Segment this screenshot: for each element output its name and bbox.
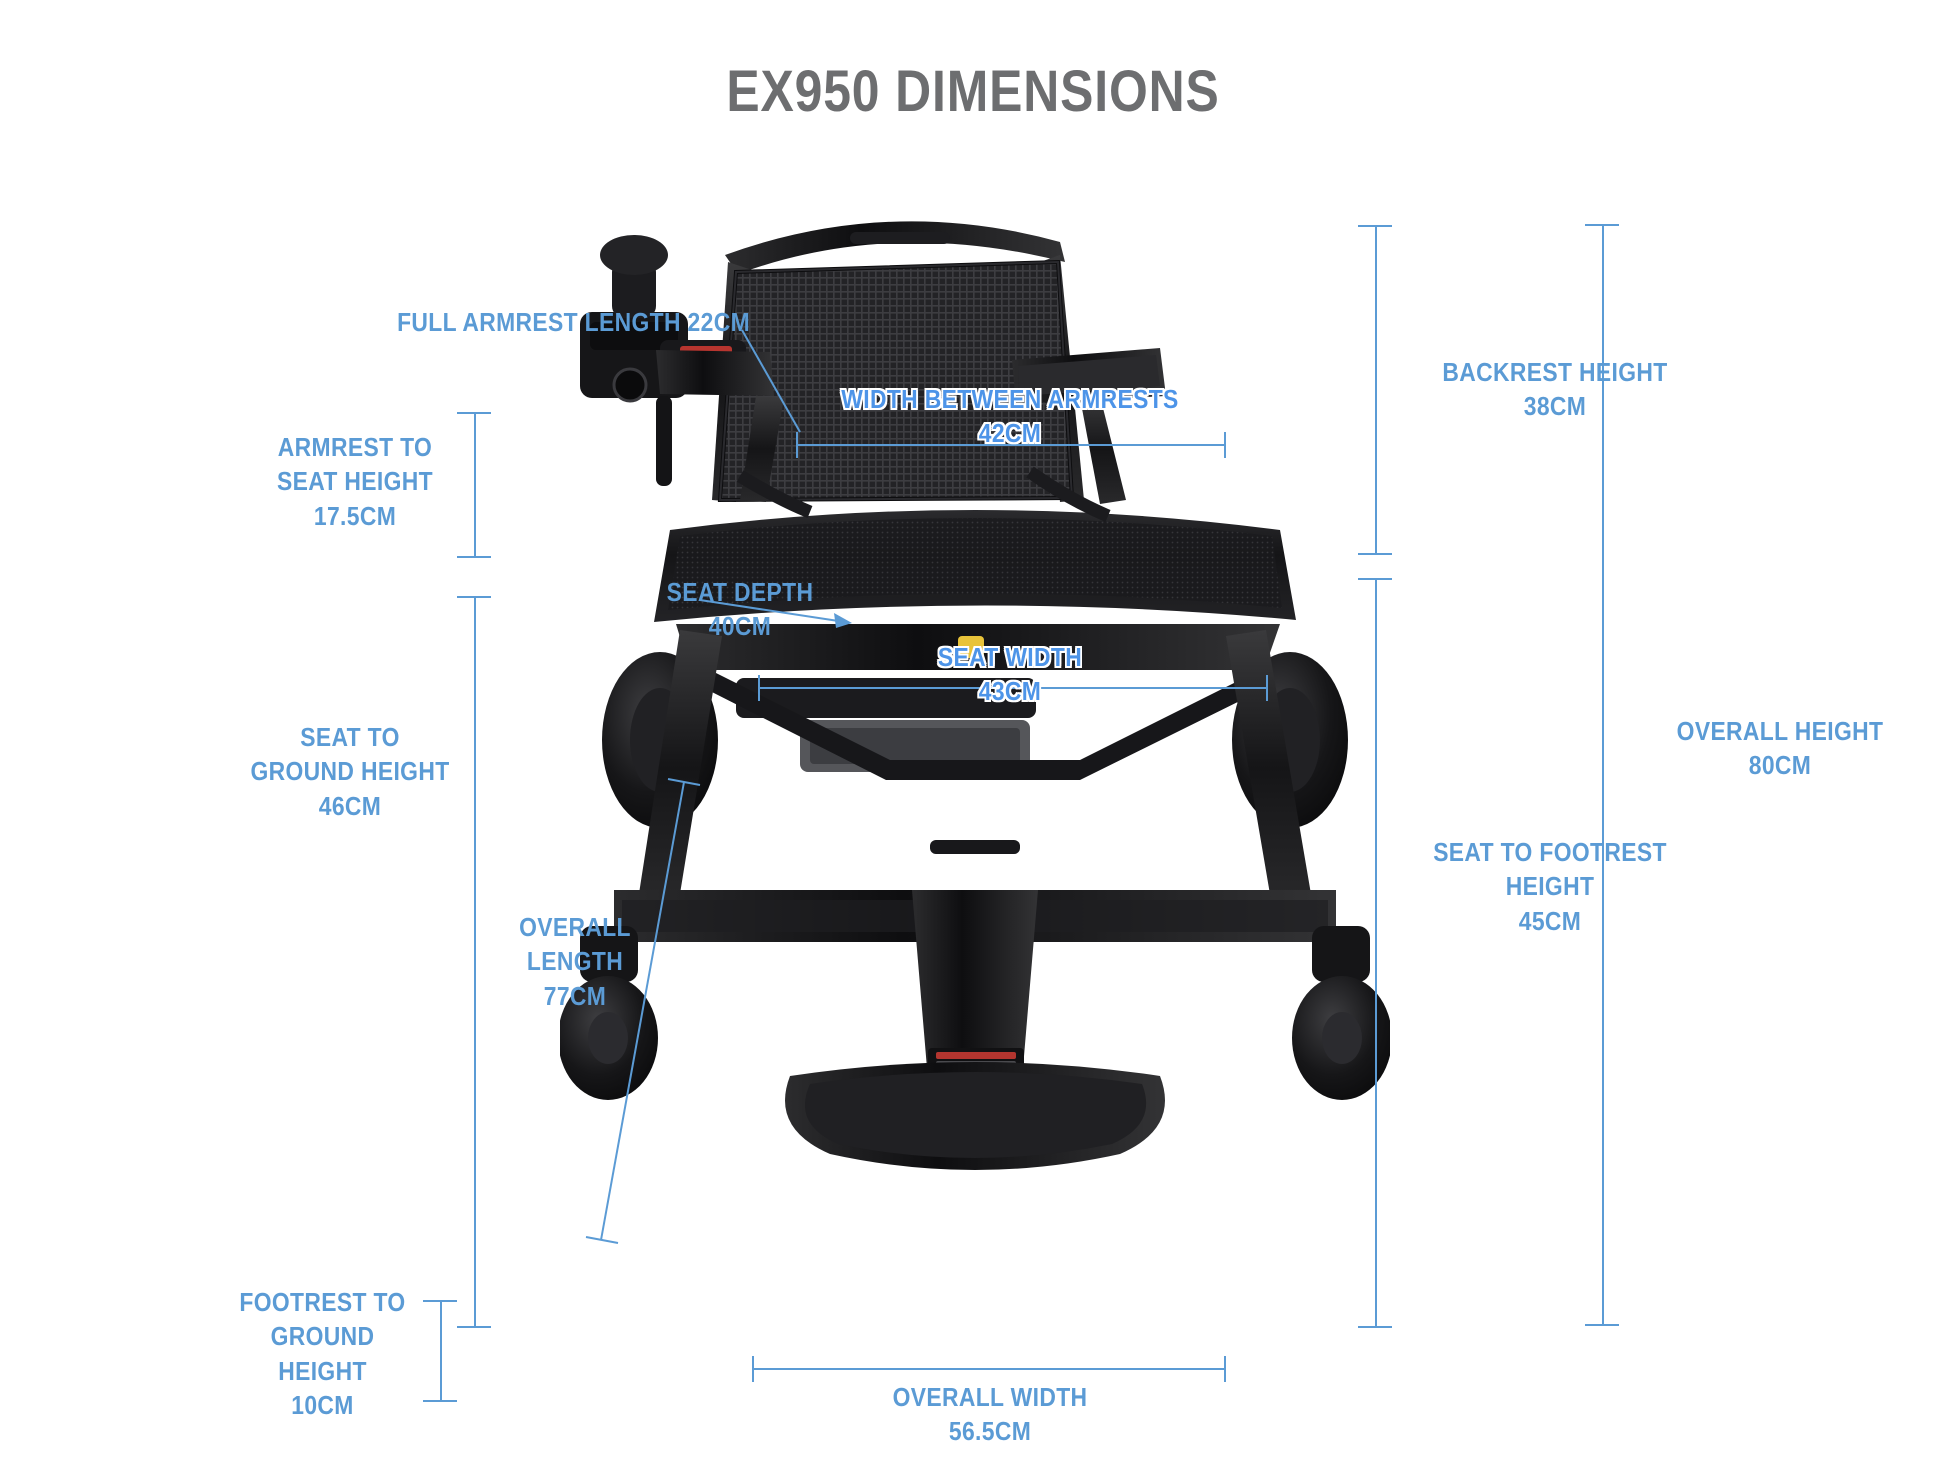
seat-to-footrest-cap-bottom [1358, 1326, 1392, 1328]
label-overall-length: OVERALL LENGTH 77CM [474, 910, 676, 1013]
wheelchair-photo [560, 200, 1390, 1320]
label-seat-to-ground-height: SEAT TO GROUND HEIGHT 46CM [240, 720, 460, 823]
overall-height-cap-bottom [1585, 1324, 1619, 1326]
label-full-armrest-length: FULL ARMREST LENGTH 22CM [231, 305, 750, 339]
seat-to-ground-cap-top [457, 596, 491, 598]
label-seat-width: SEAT WIDTH 43CM [878, 640, 1142, 709]
seat-width-cap-right [1266, 675, 1268, 701]
label-footrest-to-ground-height: FOOTREST TO GROUND HEIGHT 10CM [224, 1285, 422, 1422]
label-overall-height: OVERALL HEIGHT 80CM [1639, 714, 1921, 783]
overall-height-cap-top [1585, 224, 1619, 226]
backrest-height-line [1375, 225, 1377, 553]
backrest-height-cap-bottom [1358, 553, 1392, 555]
label-seat-depth: SEAT DEPTH 40CM [661, 575, 819, 644]
seat-to-footrest-line [1375, 578, 1377, 1326]
label-armrest-to-seat-height: ARMREST TO SEAT HEIGHT 17.5CM [254, 430, 456, 533]
label-seat-to-footrest-height: SEAT TO FOOTREST HEIGHT 45CM [1405, 835, 1695, 938]
overall-width-cap-left [752, 1356, 754, 1382]
seat-to-ground-cap-bottom [457, 1326, 491, 1328]
page-title: EX950 DIMENSIONS [136, 58, 1810, 125]
footrest-to-ground-cap-top [423, 1300, 457, 1302]
seat-width-cap-left [758, 675, 760, 701]
label-width-between-armrests: WIDTH BETWEEN ARMRESTS 42CM [790, 382, 1230, 451]
overall-width-line [752, 1368, 1226, 1370]
backrest-height-cap-top [1358, 225, 1392, 227]
label-backrest-height: BACKREST HEIGHT 38CM [1410, 355, 1700, 424]
dimensions-diagram: EX950 DIMENSIONS [0, 0, 1946, 1460]
armrest-to-seat-line [474, 412, 476, 556]
armrest-to-seat-cap-top [457, 412, 491, 414]
seat-to-footrest-cap-top [1358, 578, 1392, 580]
overall-width-cap-right [1224, 1356, 1226, 1382]
armrest-to-seat-cap-bottom [457, 556, 491, 558]
footrest-to-ground-line [440, 1300, 442, 1400]
footrest-to-ground-cap-bottom [423, 1400, 457, 1402]
label-overall-width: OVERALL WIDTH 56.5CM [854, 1380, 1127, 1449]
